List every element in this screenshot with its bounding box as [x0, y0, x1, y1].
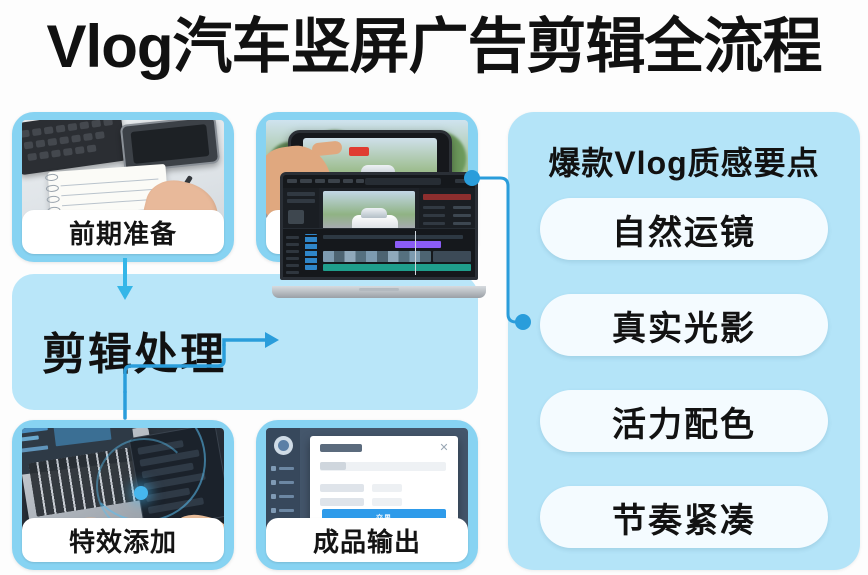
prep-label: 前期准备 — [22, 210, 224, 254]
page-title: Vlog汽车竖屏广告剪辑全流程 — [0, 6, 868, 88]
close-icon: ✕ — [439, 443, 449, 453]
infographic-page: Vlog汽车竖屏广告剪辑全流程 剪辑处理 — [0, 0, 868, 575]
editing-stage-label: 剪辑处理 — [42, 318, 226, 382]
quality-pill-3[interactable]: 节奏紧凑 — [540, 486, 828, 548]
title-text: Vlog汽车竖屏广告剪辑全流程 — [47, 17, 822, 77]
step-card-prep[interactable]: 前期准备 — [12, 112, 234, 262]
output-label: 成品输出 — [266, 518, 468, 562]
fx-label: 特效添加 — [22, 518, 224, 562]
step-card-output[interactable]: ✕ 交果 成品输出 — [256, 420, 478, 570]
laptop-video-editor — [272, 172, 486, 298]
quality-pill-2[interactable]: 活力配色 — [540, 390, 828, 452]
quality-points-panel: 爆款Vlog质感要点 自然运镜 真实光影 活力配色 节奏紧凑 — [508, 112, 860, 570]
quality-pill-0[interactable]: 自然运镜 — [540, 198, 828, 260]
quality-pill-1[interactable]: 真实光影 — [540, 294, 828, 356]
step-card-fx[interactable]: 特效添加 — [12, 420, 234, 570]
panel-heading: 爆款Vlog质感要点 — [508, 138, 860, 184]
